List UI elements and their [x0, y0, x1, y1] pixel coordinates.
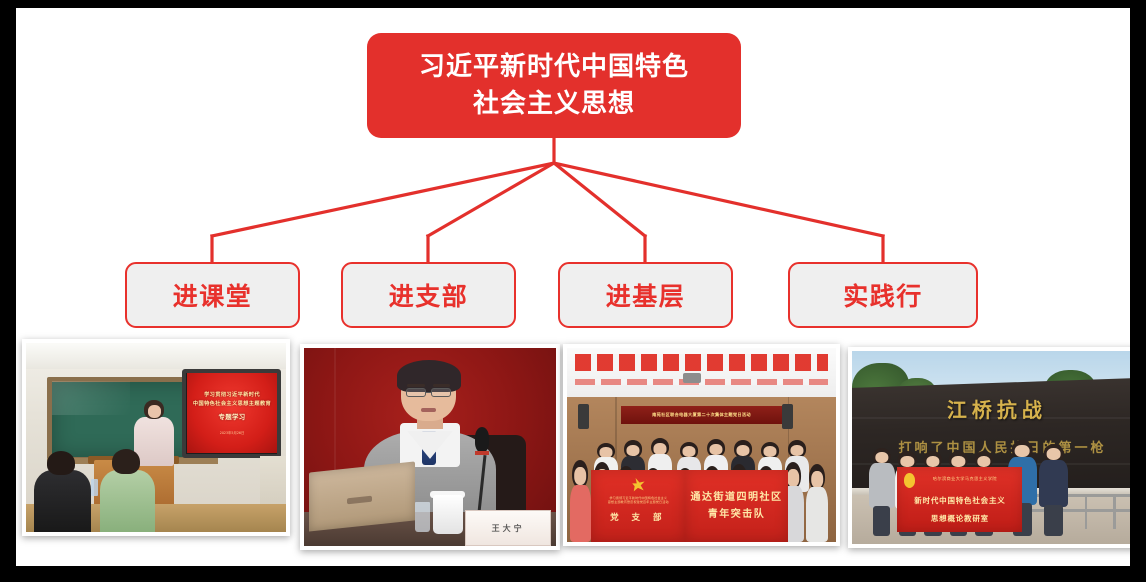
tea-cup: [433, 495, 463, 535]
party-emblem-icon: [631, 477, 646, 493]
root-node-line-1: 习近平新时代中国特色: [419, 49, 689, 86]
display-title: 专题学习: [218, 412, 245, 423]
student-back-left-body: [34, 470, 91, 532]
microphone-head: [475, 427, 489, 453]
photo-community-group[interactable]: 南苑社区联合电器大厦第二十次集体主题党日活动: [563, 344, 840, 546]
monument-title: 江桥抗战: [947, 394, 1047, 423]
connector-diagonal-1: [212, 163, 554, 236]
leaf-node-jinketang[interactable]: 进课堂: [125, 262, 300, 328]
root-node-line-2: 社会主义思想: [473, 86, 635, 123]
presenter-body: [134, 417, 174, 466]
banner-organization: 哈尔滨商业大学马克思主义学院: [933, 476, 997, 482]
leaf-node-label: 进基层: [606, 277, 686, 313]
name-placard: 王大宁: [465, 510, 551, 546]
display-date: 2023年5月26日: [220, 430, 245, 435]
banner-line-2: 思想概论教研室: [931, 513, 989, 524]
handrail-post: [1113, 494, 1116, 529]
speaker-brow-right: [433, 384, 451, 387]
party-banner-line-2: 思想主题教育暨庆祝建党百年主题党日活动: [608, 500, 669, 504]
visitor: [1039, 444, 1067, 537]
speaker-hair: [397, 360, 461, 392]
wall-speaker-right: [782, 404, 793, 429]
display-line-1: 学习贯彻习近平新时代: [204, 391, 260, 400]
hall-banner-text: 南苑社区联合电器大厦第二十次集体主题党日活动: [652, 412, 751, 418]
leaf-node-label: 实践行: [843, 277, 923, 313]
youth-banner-line-2: 青年突击队: [708, 506, 766, 523]
handrail-post: [1085, 494, 1088, 529]
student-back-right-head: [112, 449, 141, 475]
photo-speaker[interactable]: 王大宁: [300, 344, 560, 550]
speaker-mouth: [421, 408, 436, 412]
visitor-body: [1039, 460, 1067, 506]
youth-team-banner: 通达街道四明社区 青年突击队: [685, 470, 787, 542]
youth-banner-line-1: 通达街道四明社区: [690, 489, 782, 506]
visitor-face: [952, 456, 965, 467]
presenter-face: [148, 405, 161, 417]
photo-classroom-image: 学习贯彻习近平新时代 中国特色社会主义思想主题教育 专题学习 2023年5月26…: [26, 343, 286, 532]
visitor-face: [1015, 445, 1030, 458]
connector-diagonal-3: [554, 163, 645, 236]
speaker-brow-left: [407, 384, 425, 387]
member-face: [787, 469, 799, 487]
party-banner-title: 党 支 部: [610, 511, 666, 523]
group-member: [806, 464, 828, 542]
classroom-ceiling: [26, 343, 286, 369]
party-branch-banner: 学习贯彻习近平新时代中国特色社会主义 思想主题教育暨庆祝建党百年主题党日活动 党…: [591, 470, 685, 542]
connector-diagonal-2: [428, 163, 554, 236]
wall-speaker-left: [578, 404, 589, 429]
root-node-xi-jinping-thought[interactable]: 习近平新时代中国特色 社会主义思想: [367, 33, 741, 138]
leaf-node-jinjiceng[interactable]: 进基层: [558, 262, 733, 328]
member-body: [570, 485, 592, 542]
visitor-face: [977, 456, 990, 467]
leaf-node-label: 进支部: [389, 277, 469, 313]
visitor-legs: [873, 506, 890, 536]
visitor-body: [869, 463, 895, 507]
classroom-display-screen: 学习贯彻习近平新时代 中国特色社会主义思想主题教育 专题学习 2023年5月26…: [187, 373, 277, 452]
slide-canvas: 习近平新时代中国特色 社会主义思想 进课堂 进支部 进基层 实践行: [16, 8, 1130, 566]
water-bottle: [91, 479, 98, 496]
name-placard-text: 王大宁: [492, 523, 525, 534]
leaf-node-label: 进课堂: [173, 277, 253, 313]
eyeglasses-right-lens: [431, 388, 451, 398]
photo-monument-visit-image: 江桥抗战 打响了中国人民抗日的第一枪: [852, 351, 1130, 544]
member-face: [575, 467, 587, 485]
member-face: [811, 471, 823, 488]
visitor-face: [901, 456, 914, 467]
photo-classroom[interactable]: 学习贯彻习近平新时代 中国特色社会主义思想主题教育 专题学习 2023年5月26…: [22, 339, 290, 536]
display-line-2: 中国特色社会主义思想主题教育: [193, 400, 271, 409]
water-glass: [415, 502, 430, 532]
ceiling-projector: [683, 373, 702, 383]
university-logo-icon: [904, 473, 915, 487]
connector-diagonal-4: [554, 163, 883, 236]
research-office-banner: 哈尔滨商业大学马克思主义学院 新时代中国特色社会主义 思想概论教研室: [897, 467, 1022, 533]
leaf-node-shijianxing[interactable]: 实践行: [788, 262, 978, 328]
eyeglasses-bridge: [426, 392, 432, 393]
visitor-face: [1046, 448, 1061, 460]
monument-title-area: 江桥抗战: [909, 393, 1085, 424]
member-body: [806, 487, 828, 542]
photo-monument-visit[interactable]: 江桥抗战 打响了中国人民抗日的第一枪: [848, 347, 1130, 548]
ceiling-red-panels-secondary: [575, 379, 828, 385]
visitor-face: [875, 452, 888, 464]
group-member: [570, 460, 592, 542]
student-back-right-body: [100, 470, 155, 532]
ceiling-red-panels: [575, 354, 828, 371]
hall-banner-screen: 南苑社区联合电器大厦第二十次集体主题党日活动: [621, 406, 782, 423]
microphone-ring: [475, 451, 489, 455]
visitor-face: [926, 456, 939, 467]
banner-line-1: 新时代中国特色社会主义: [914, 495, 1005, 506]
leaf-node-jinzhibu[interactable]: 进支部: [341, 262, 516, 328]
photo-community-group-image: 南苑社区联合电器大厦第二十次集体主题党日活动: [567, 348, 836, 542]
photo-speaker-image: 王大宁: [304, 348, 556, 546]
student-back-left-head: [47, 451, 76, 476]
chalkboard-glare: [52, 381, 130, 415]
visitor: [869, 448, 895, 537]
eyeglasses-left-lens: [406, 388, 426, 398]
visitor-legs: [1044, 505, 1063, 536]
